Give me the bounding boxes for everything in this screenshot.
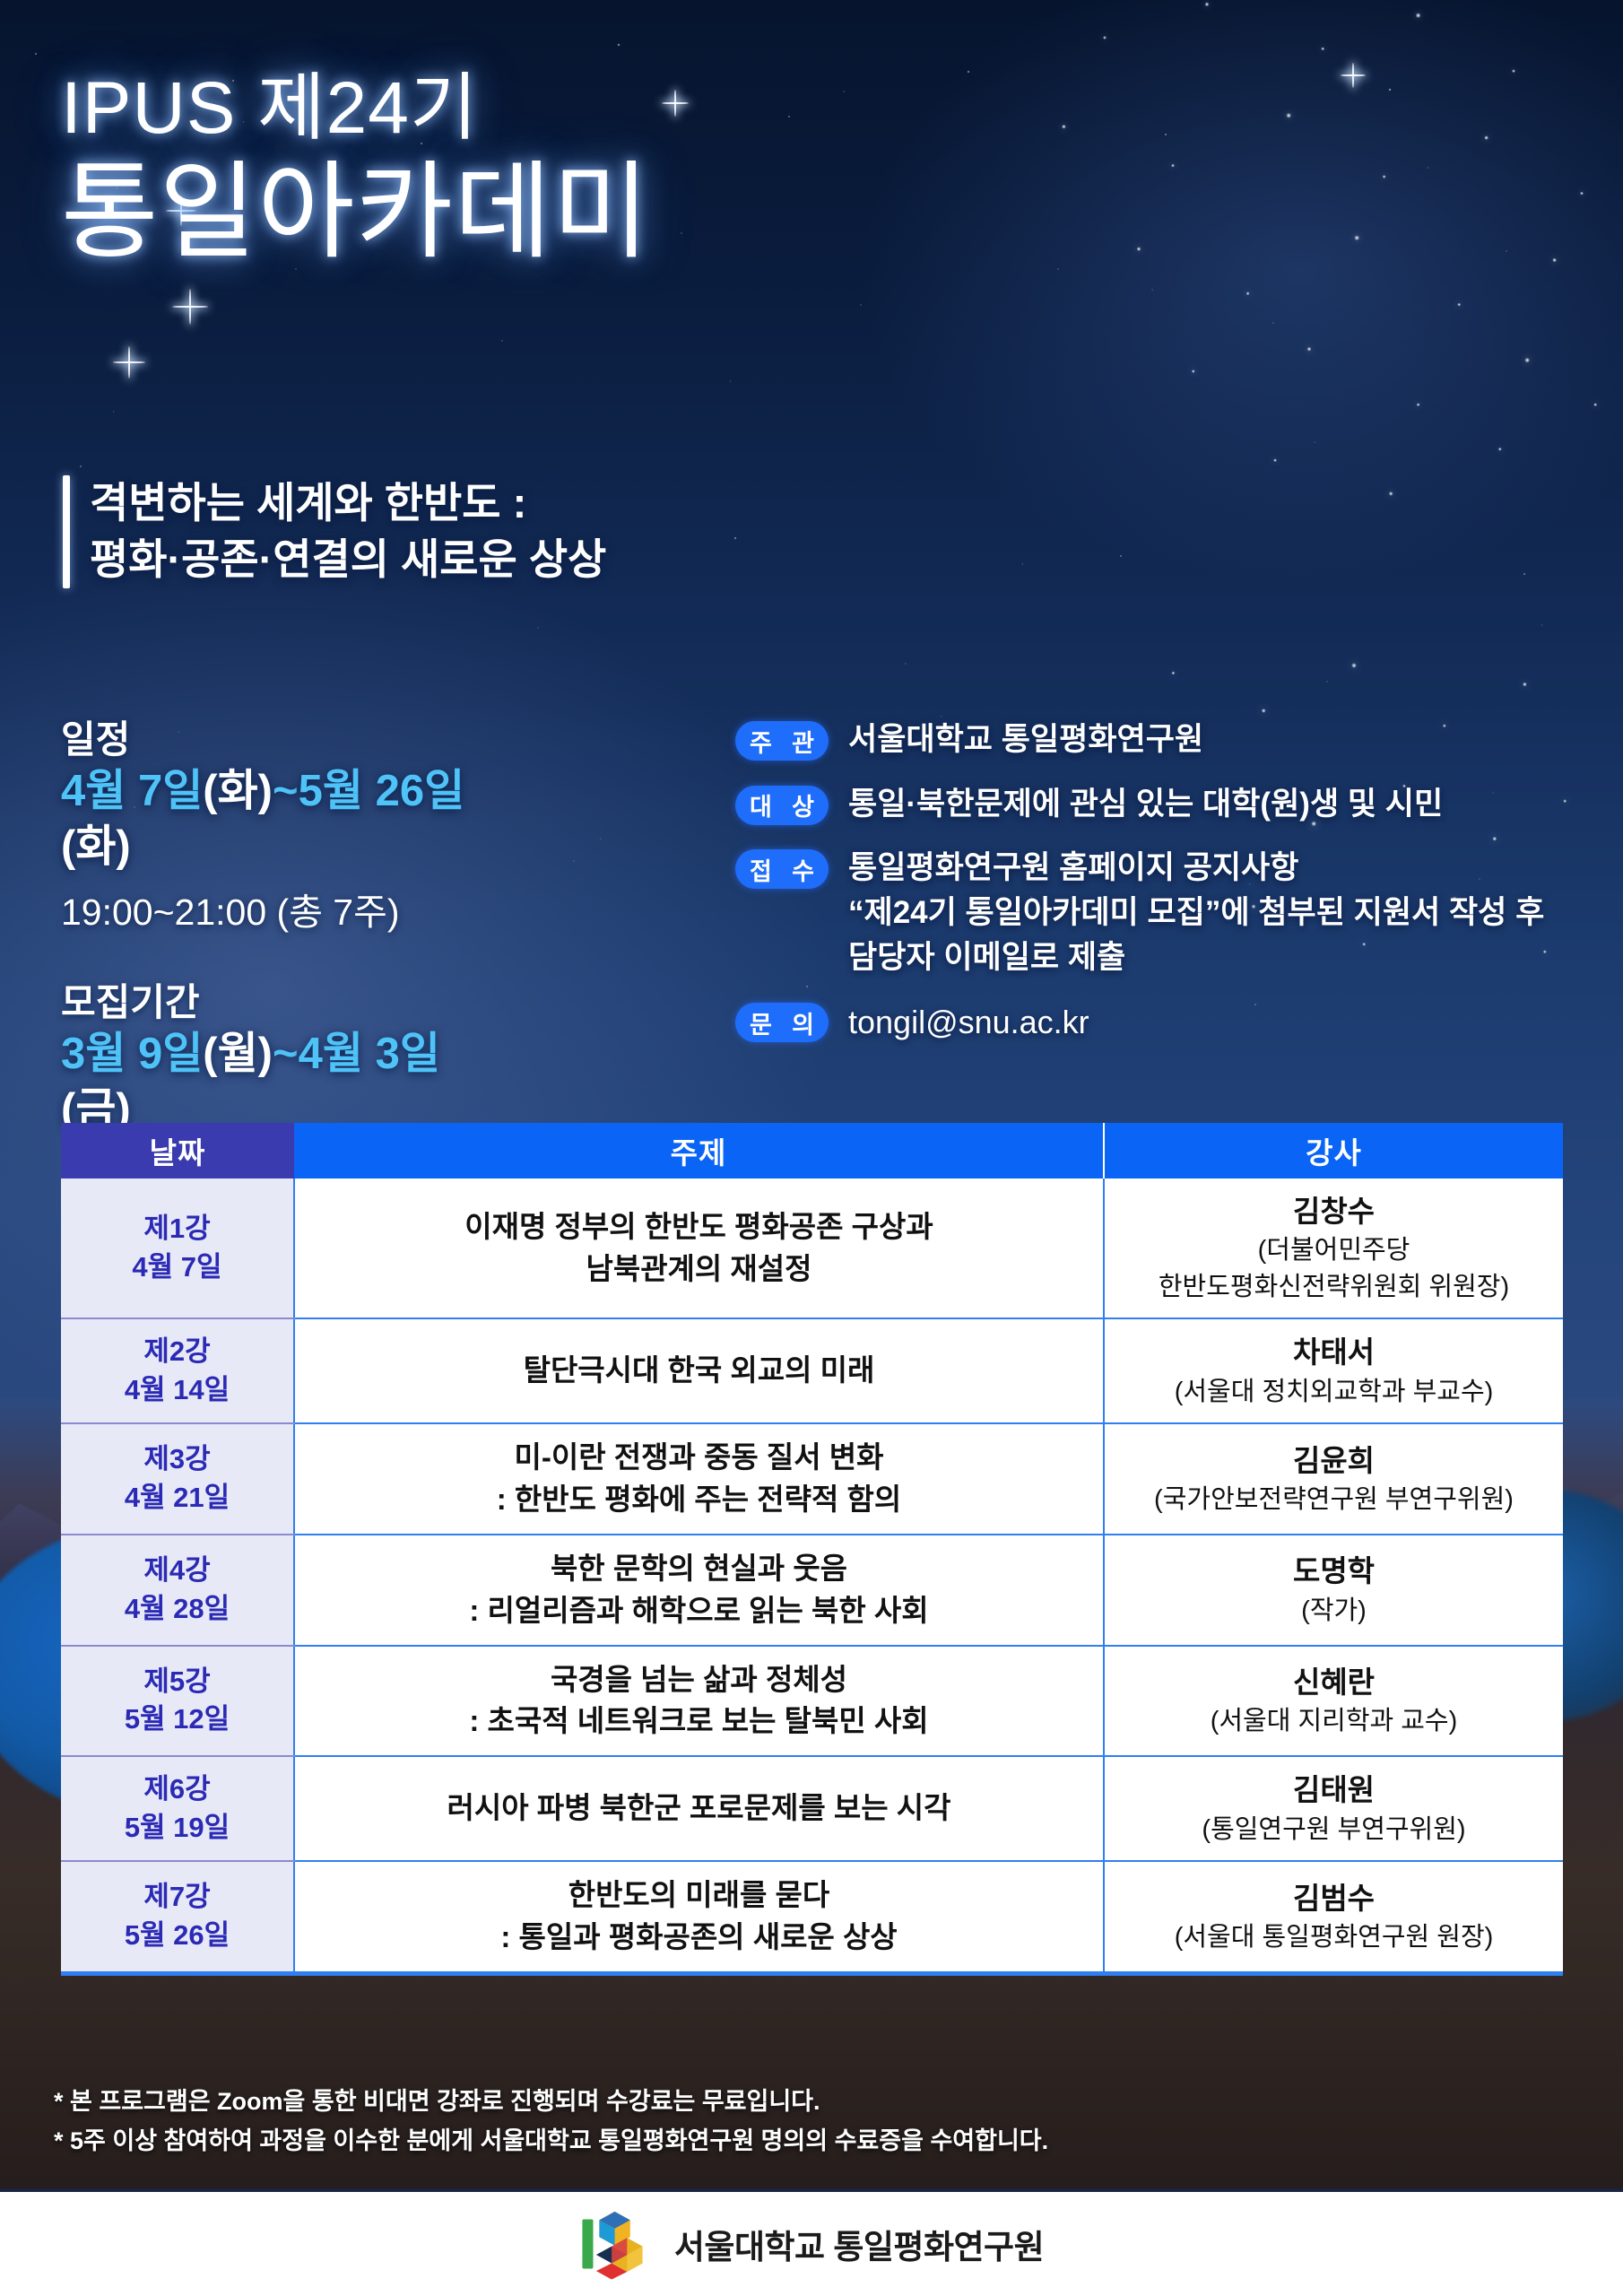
cell-date: 제5강5월 12일 (61, 1646, 294, 1757)
lecturer-name: 김범수 (1114, 1878, 1554, 1919)
lecturer-affiliation-line: (서울대 지리학과 교수) (1114, 1703, 1554, 1740)
detail-label-pill: 주관 (735, 721, 829, 761)
schedule-table-body: 제1강4월 7일이재명 정부의 한반도 평화공존 구상과남북관계의 재설정김창수… (61, 1178, 1563, 1971)
session-date: 4월 14일 (70, 1371, 284, 1410)
topic-line: 러시아 파병 북한군 포로문제를 보는 시각 (304, 1787, 1094, 1830)
detail-value: 서울대학교 통일평화연구원 (848, 717, 1203, 762)
topic-line: 한반도의 미래를 묻다 (304, 1874, 1094, 1917)
detail-value-line: 통일·북한문제에 관심 있는 대학(원)생 및 시민 (848, 782, 1443, 827)
session-number: 제3강 (70, 1440, 284, 1479)
poster-subtitle: 격변하는 세계와 한반도 : 평화·공존·연결의 새로운 상상 (63, 475, 606, 588)
detail-label-char-b: 수 (792, 852, 814, 887)
session-number: 제4강 (70, 1552, 284, 1590)
cell-topic: 국경을 넘는 삶과 정체성: 초국적 네트워크로 보는 탈북민 사회 (294, 1646, 1104, 1757)
topic-line: 국경을 넘는 삶과 정체성 (304, 1659, 1094, 1701)
detail-row: 주관서울대학교 통일평화연구원 (735, 717, 1578, 762)
period-start: 4월 7일 (61, 767, 203, 815)
cell-lecturer: 김윤희(국가안보전략연구원 부연구위원) (1104, 1423, 1563, 1535)
schedule-table-wrapper: 날짜 주제 강사 제1강4월 7일이재명 정부의 한반도 평화공존 구상과남북관… (61, 1123, 1563, 1976)
lecturer-name: 신혜란 (1114, 1662, 1554, 1703)
period-start-day: (화) (203, 767, 273, 815)
title-line-1: IPUS 제24기 (61, 72, 650, 145)
lecturer-affiliation-line: 한반도평화신전략위원회 위원장) (1114, 1269, 1554, 1306)
lecturer-name: 도명학 (1114, 1551, 1554, 1592)
period-time: 19:00~21:00 (총 7주) (61, 882, 509, 935)
detail-label-pill: 접수 (735, 849, 829, 889)
cell-topic: 한반도의 미래를 묻다: 통일과 평화공존의 새로운 상상 (294, 1861, 1104, 1971)
session-date: 4월 7일 (70, 1248, 284, 1287)
cell-lecturer: 차태서(서울대 정치외교학과 부교수) (1104, 1318, 1563, 1423)
detail-label-pill: 문의 (735, 1003, 829, 1042)
footnote-line: * 5주 이상 참여하여 과정을 이수한 분에게 서울대학교 통일평화연구원 명… (54, 2122, 1453, 2161)
period-tilde: ~ (273, 767, 299, 815)
topic-line: 미-이란 전쟁과 중동 질서 변화 (304, 1437, 1094, 1479)
detail-label-char-b: 의 (792, 1005, 814, 1040)
topic-line: : 초국적 네트워크로 보는 탈북민 사회 (304, 1700, 1094, 1743)
detail-value-line: tongil@snu.ac.kr (848, 999, 1089, 1045)
detail-value: 통일평화연구원 홈페이지 공지사항“제24기 통일아카데미 모집”에 첨부된 지… (848, 846, 1544, 979)
topic-line: 탈단극시대 한국 외교의 미래 (304, 1350, 1094, 1392)
recruit-tilde: ~ (273, 1030, 299, 1078)
schedule-info-block: 일정 4월 7일(화)~5월 26일(화) 19:00~21:00 (총 7주)… (61, 717, 509, 1137)
topic-line: 이재명 정부의 한반도 평화공존 구상과 (304, 1206, 1094, 1248)
detail-label-char-b: 상 (792, 787, 814, 822)
table-row: 제3강4월 21일미-이란 전쟁과 중동 질서 변화: 한반도 평화에 주는 전… (61, 1423, 1563, 1535)
poster-title: IPUS 제24기 통일아카데미 (61, 72, 650, 265)
detail-value-line: 담당자 이메일로 제출 (848, 935, 1544, 980)
lecturer-affiliation-line: (국가안보전략연구원 부연구위원) (1114, 1482, 1554, 1518)
column-header-topic: 주제 (294, 1123, 1104, 1178)
cell-lecturer: 김범수(서울대 통일평화연구원 원장) (1104, 1861, 1563, 1971)
detail-row: 대상통일·북한문제에 관심 있는 대학(원)생 및 시민 (735, 782, 1578, 827)
period-label: 일정 (61, 717, 509, 762)
session-number: 제5강 (70, 1663, 284, 1701)
recruit-label: 모집기간 (61, 980, 509, 1025)
lecturer-affiliation-line: (통일연구원 부연구위원) (1114, 1812, 1554, 1848)
cell-date: 제1강4월 7일 (61, 1178, 294, 1318)
detail-label-char-a: 문 (750, 1005, 772, 1040)
table-row: 제4강4월 28일북한 문학의 현실과 웃음: 리얼리즘과 해학으로 읽는 북한… (61, 1535, 1563, 1646)
cell-lecturer: 신혜란(서울대 지리학과 교수) (1104, 1646, 1563, 1757)
recruit-value: 3월 9일(월)~4월 3일(금) (61, 1027, 509, 1137)
column-header-lecturer: 강사 (1104, 1123, 1563, 1178)
cell-date: 제3강4월 21일 (61, 1423, 294, 1535)
lecturer-name: 김태원 (1114, 1770, 1554, 1811)
detail-label-char-a: 대 (750, 787, 772, 822)
table-row: 제5강5월 12일국경을 넘는 삶과 정체성: 초국적 네트워크로 보는 탈북민… (61, 1646, 1563, 1757)
contact-email[interactable]: tongil@snu.ac.kr (848, 999, 1089, 1045)
cell-date: 제4강4월 28일 (61, 1535, 294, 1646)
column-header-date: 날짜 (61, 1123, 294, 1178)
cell-topic: 미-이란 전쟁과 중동 질서 변화: 한반도 평화에 주는 전략적 함의 (294, 1423, 1104, 1535)
period-end: 5월 26일 (299, 767, 465, 815)
table-row: 제2강4월 14일탈단극시대 한국 외교의 미래차태서(서울대 정치외교학과 부… (61, 1318, 1563, 1423)
subtitle-accent-bar (63, 475, 70, 588)
cell-lecturer: 김창수(더불어민주당한반도평화신전략위원회 위원장) (1104, 1178, 1563, 1318)
session-date: 5월 19일 (70, 1809, 284, 1848)
session-date: 5월 12일 (70, 1700, 284, 1739)
detail-row: 접수통일평화연구원 홈페이지 공지사항“제24기 통일아카데미 모집”에 첨부된… (735, 846, 1578, 979)
cell-topic: 이재명 정부의 한반도 평화공존 구상과남북관계의 재설정 (294, 1178, 1104, 1318)
session-number: 제6강 (70, 1770, 284, 1809)
cell-date: 제6강5월 19일 (61, 1756, 294, 1861)
ipus-logo-icon (579, 2205, 656, 2283)
recruit-end: 4월 3일 (299, 1030, 440, 1078)
title-line-2: 통일아카데미 (61, 160, 650, 265)
subtitle-line-1: 격변하는 세계와 한반도 : (90, 475, 606, 532)
cell-date: 제2강4월 14일 (61, 1318, 294, 1423)
lecturer-affiliation-line: (서울대 통일평화연구원 원장) (1114, 1919, 1554, 1956)
detail-value-line: “제24기 통일아카데미 모집”에 첨부된 지원서 작성 후 (848, 891, 1544, 935)
recruit-period-block: 모집기간 3월 9일(월)~4월 3일(금) (61, 980, 509, 1137)
table-row: 제7강5월 26일한반도의 미래를 묻다: 통일과 평화공존의 새로운 상상김범… (61, 1861, 1563, 1971)
session-date: 5월 26일 (70, 1917, 284, 1955)
footnotes: * 본 프로그램은 Zoom을 통한 비대면 강좌로 진행되며 수강료는 무료입… (54, 2083, 1453, 2161)
cell-topic: 러시아 파병 북한군 포로문제를 보는 시각 (294, 1756, 1104, 1861)
poster-footer: 서울대학교 통일평화연구원 (0, 2192, 1623, 2296)
footnote-line: * 본 프로그램은 Zoom을 통한 비대면 강좌로 진행되며 수강료는 무료입… (54, 2083, 1453, 2122)
poster-canvas: IPUS 제24기 통일아카데미 격변하는 세계와 한반도 : 평화·공존·연결… (0, 0, 1623, 2296)
topic-line: : 리얼리즘과 해학으로 읽는 북한 사회 (304, 1590, 1094, 1632)
session-number: 제1강 (70, 1210, 284, 1248)
lecturer-name: 김창수 (1114, 1191, 1554, 1232)
detail-label-char-a: 주 (750, 724, 772, 759)
schedule-table-head: 날짜 주제 강사 (61, 1123, 1563, 1178)
recruit-start: 3월 9일 (61, 1030, 203, 1078)
detail-value-line: 서울대학교 통일평화연구원 (848, 717, 1203, 762)
lecturer-name: 김윤희 (1114, 1440, 1554, 1482)
cell-topic: 탈단극시대 한국 외교의 미래 (294, 1318, 1104, 1423)
detail-value-line: 통일평화연구원 홈페이지 공지사항 (848, 846, 1544, 891)
period-value: 4월 7일(화)~5월 26일(화) (61, 764, 509, 874)
lecturer-name: 차태서 (1114, 1332, 1554, 1373)
detail-row: 문의tongil@snu.ac.kr (735, 999, 1578, 1045)
subtitle-text: 격변하는 세계와 한반도 : 평화·공존·연결의 새로운 상상 (90, 475, 606, 588)
lecturer-affiliation-line: (더불어민주당 (1114, 1232, 1554, 1269)
lecturer-affiliation-line: (서울대 정치외교학과 부교수) (1114, 1374, 1554, 1411)
cell-date: 제7강5월 26일 (61, 1861, 294, 1971)
topic-line: : 한반도 평화에 주는 전략적 함의 (304, 1479, 1094, 1521)
session-number: 제2강 (70, 1333, 284, 1371)
table-header-row: 날짜 주제 강사 (61, 1123, 1563, 1178)
cell-topic: 북한 문학의 현실과 웃음: 리얼리즘과 해학으로 읽는 북한 사회 (294, 1535, 1104, 1646)
session-number: 제7강 (70, 1878, 284, 1917)
table-row: 제1강4월 7일이재명 정부의 한반도 평화공존 구상과남북관계의 재설정김창수… (61, 1178, 1563, 1318)
period-end-day: (화) (61, 822, 131, 871)
cell-lecturer: 도명학(작가) (1104, 1535, 1563, 1646)
topic-line: : 통일과 평화공존의 새로운 상상 (304, 1917, 1094, 1959)
topic-line: 남북관계의 재설정 (304, 1248, 1094, 1291)
recruit-start-day: (월) (203, 1030, 273, 1078)
detail-value: 통일·북한문제에 관심 있는 대학(원)생 및 시민 (848, 782, 1443, 827)
subtitle-line-2: 평화·공존·연결의 새로운 상상 (90, 532, 606, 588)
detail-label-pill: 대상 (735, 786, 829, 825)
schedule-table: 날짜 주제 강사 제1강4월 7일이재명 정부의 한반도 평화공존 구상과남북관… (61, 1123, 1563, 1971)
details-list: 주관서울대학교 통일평화연구원대상통일·북한문제에 관심 있는 대학(원)생 및… (735, 717, 1578, 1065)
lecturer-affiliation-line: (작가) (1114, 1593, 1554, 1630)
session-date: 4월 28일 (70, 1590, 284, 1629)
detail-label-char-a: 접 (750, 852, 772, 887)
footer-organization-name: 서울대학교 통일평화연구원 (674, 2220, 1044, 2268)
session-date: 4월 21일 (70, 1479, 284, 1518)
topic-line: 북한 문학의 현실과 웃음 (304, 1548, 1094, 1590)
table-row: 제6강5월 19일러시아 파병 북한군 포로문제를 보는 시각김태원(통일연구원… (61, 1756, 1563, 1861)
cell-lecturer: 김태원(통일연구원 부연구위원) (1104, 1756, 1563, 1861)
detail-label-char-b: 관 (792, 724, 814, 759)
